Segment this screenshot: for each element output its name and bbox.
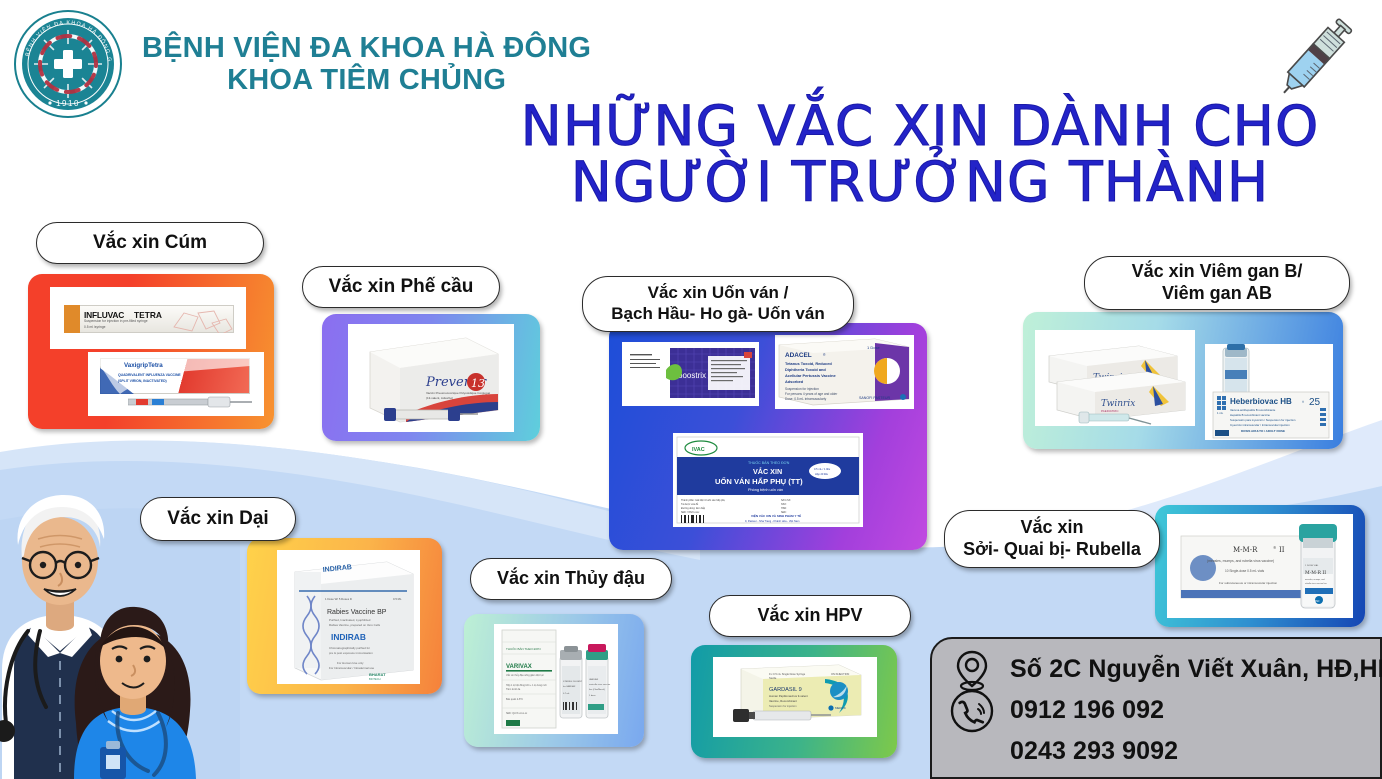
svg-text:0.7 mL: 0.7 mL <box>563 693 570 695</box>
svg-text:SĐK: QLVX-xxxx-xx: SĐK: QLVX-xxxx-xx <box>506 712 528 715</box>
poster-title: NHỮNG VẮC XIN DÀNH CHO NGƯỜI TRƯỞNG THÀN… <box>470 98 1370 210</box>
svg-text:boostrix: boostrix <box>678 371 706 380</box>
svg-text:Vaccine, Recombinant: Vaccine, Recombinant <box>769 699 797 703</box>
vaccine-label-phe-cau[interactable]: Vắc xin Phế cầu <box>302 266 500 308</box>
svg-text:Tetanus Toxoid, Reduced: Tetanus Toxoid, Reduced <box>785 361 832 366</box>
svg-text:Rabies Vaccine, prepared on Ve: Rabies Vaccine, prepared on Vero Cells <box>329 623 381 627</box>
svg-text:9 x 0.5 mL Single Dose Syringe: 9 x 0.5 mL Single Dose Syringe <box>769 672 806 676</box>
contact-mobile-row: 0912 196 092 <box>946 690 1368 731</box>
vaccine-label-viem-gan-line1: Vắc xin Viêm gan B/ <box>1132 261 1303 283</box>
svg-text:VARIVAX: VARIVAX <box>589 678 599 681</box>
svg-text:Suspensión para inyección / Su: Suspensión para inyección / Suspension f… <box>1230 418 1296 422</box>
contact-panel: Số 2C Nguyễn Viết Xuân, HĐ,HN 0912 196 0… <box>930 637 1382 779</box>
svg-text:Thành phần: Giải độc tố uốn vá: Thành phần: Giải độc tố uốn ván hấp phụ <box>681 499 726 502</box>
svg-text:Inyección intramuscular / Intr: Inyección intramuscular / Intramuscular … <box>1230 423 1290 427</box>
vaccine-label-hpv[interactable]: Vắc xin HPV <box>709 595 911 637</box>
svg-text:VẮC XIN: VẮC XIN <box>753 467 782 476</box>
svg-text:25: 25 <box>1309 397 1321 408</box>
svg-text:1 Dose W/ 5 Doses D: 1 Dose W/ 5 Doses D <box>325 597 352 601</box>
svg-text:Phòng bệnh uốn ván: Phòng bệnh uốn ván <box>748 488 783 492</box>
vaccine-label-mmr-line1: Vắc xin <box>1020 517 1083 539</box>
hospital-logo: BỆNH VIỆN ĐA KHOA HÀ ĐÔNG GENERAL HOSPIT… <box>12 8 124 120</box>
contact-phone-mobile: 0912 196 092 <box>1010 696 1164 725</box>
vaccine-label-cum-text: Vắc xin Cúm <box>93 231 207 254</box>
svg-text:Purified, Inactivated, Lyophil: Purified, Inactivated, Lyophilized <box>329 618 371 622</box>
vaxigrip-line2: (SPLIT VIRION, INACTIVATED) <box>118 379 167 383</box>
svg-text:Vacuna antihepatitis B recombi: Vacuna antihepatitis B recombinante <box>1230 408 1276 412</box>
svg-text:Bảo quản 2-8°C: Bảo quản 2-8°C <box>506 698 523 701</box>
svg-text:Hộp 1 lọ bột đông khô + 1 lọ d: Hộp 1 lọ bột đông khô + 1 lọ dung môi <box>506 684 547 687</box>
svg-text:0.5 mL / 1 liều: 0.5 mL / 1 liều <box>814 467 831 471</box>
svg-text:Số lô SX:: Số lô SX: <box>781 499 791 502</box>
vaccine-label-viem-gan[interactable]: Vắc xin Viêm gan B/ Viêm gan AB <box>1084 256 1350 310</box>
vaccine-label-phe-cau-text: Vắc xin Phế cầu <box>329 275 474 298</box>
vaccine-label-thuy-dau-text: Vắc xin Thủy đậu <box>497 568 645 590</box>
poster-title-line1: NHỮNG VẮC XIN DÀNH CHO <box>470 98 1370 154</box>
vaccine-label-dai[interactable]: Vắc xin Dại <box>140 497 296 541</box>
svg-text:Tiêm dưới da: Tiêm dưới da <box>506 688 521 691</box>
svg-text:For persons 4 years of age and: For persons 4 years of age and older <box>785 392 838 396</box>
vaccine-label-viem-gan-line2: Viêm gan AB <box>1162 283 1272 305</box>
vaccine-label-hpv-text: Vắc xin HPV <box>757 605 862 627</box>
vaccine-label-dai-text: Vắc xin Dại <box>167 507 268 530</box>
vaccine-label-uon-van-line1: Vắc xin Uốn ván / <box>648 283 789 304</box>
svg-text:0.5 ML: 0.5 ML <box>393 597 402 601</box>
svg-text:Tá dược vừa đủ: Tá dược vừa đủ <box>681 503 699 506</box>
svg-text:ON INJECTION: ON INJECTION <box>831 672 849 676</box>
svg-text:For subcutaneous or intramuscu: For subcutaneous or intramuscular inject… <box>1219 581 1278 585</box>
svg-text:Suspension for injection: Suspension for injection <box>769 704 797 708</box>
svg-text:GARDASIL 9: GARDASIL 9 <box>769 687 802 693</box>
vaccine-card-cum[interactable]: INFLUVAC TETRA Suspension for injection … <box>28 274 274 429</box>
svg-text:II: II <box>1279 546 1285 554</box>
poster-title-line2: NGƯỜI TRƯỞNG THÀNH <box>470 154 1370 210</box>
phone-call-icon <box>946 688 998 734</box>
svg-text:VIỆN VẮC XIN VÀ SINH PHẨM Y TẾ: VIỆN VẮC XIN VÀ SINH PHẨM Y TẾ <box>751 513 801 518</box>
svg-text:MSD: MSD <box>1314 600 1320 603</box>
svg-text:for VARIVAX: for VARIVAX <box>563 685 576 688</box>
vaccine-label-mmr-line2: Sởi- Quai bị- Rubella <box>963 539 1141 561</box>
svg-text:live (Oka/Merck): live (Oka/Merck) <box>589 688 605 691</box>
svg-text:M-M-R: M-M-R <box>1233 546 1258 554</box>
vaccine-label-uon-van-line2: Bạch Hầu- Ho gà- Uốn ván <box>611 304 824 325</box>
svg-text:SANOFI PASTEUR: SANOFI PASTEUR <box>859 396 890 400</box>
vaccine-card-phe-cau[interactable]: Prevenar 13 Vaccin Pneumococcique Polyos… <box>322 314 540 441</box>
svg-text:13: 13 <box>471 377 485 390</box>
svg-text:Heberbiovac HB: Heberbiovac HB <box>1230 397 1292 406</box>
contact-address-row: Số 2C Nguyễn Viết Xuân, HĐ,HN <box>946 649 1368 690</box>
svg-text:Adsorbed: Adsorbed <box>785 379 804 384</box>
vaccine-card-uon-van[interactable]: boostrix ADACEL ® <box>609 323 927 550</box>
svg-text:rubella virus vaccine live: rubella virus vaccine live <box>1305 583 1328 585</box>
svg-text:BIOTECH: BIOTECH <box>369 677 381 681</box>
location-pin-icon <box>946 648 998 692</box>
svg-text:1 dose: 1 dose <box>589 695 596 697</box>
vaccine-label-mmr[interactable]: Vắc xin Sởi- Quai bị- Rubella <box>944 510 1160 568</box>
svg-text:Rabies Vaccine BP: Rabies Vaccine BP <box>327 609 387 616</box>
vaxigrip-line1: QUADRIVALENT INFLUENZA VACCINE <box>118 373 181 377</box>
svg-text:For Intramuscular / Intraderma: For Intramuscular / Intradermal use <box>329 666 375 670</box>
svg-text:NSX:: NSX: <box>781 503 787 506</box>
svg-text:Chromatographically purified f: Chromatographically purified for <box>329 646 370 650</box>
svg-text:Diphtheria Toxoid and: Diphtheria Toxoid and <box>785 367 826 372</box>
vaccine-card-hpv[interactable]: 9 x 0.5 mL Single Dose Syringe Sterile O… <box>691 645 897 758</box>
svg-text:Sterile: Sterile <box>769 676 777 680</box>
infographic-poster: BỆNH VIỆN ĐA KHOA HÀ ĐÔNG GENERAL HOSPIT… <box>0 0 1382 779</box>
svg-text:Twinrix: Twinrix <box>1101 399 1135 409</box>
vaccine-label-cum[interactable]: Vắc xin Cúm <box>36 222 264 264</box>
svg-text:10 Single-dose 0.5 mL vials: 10 Single-dose 0.5 mL vials <box>1225 569 1264 573</box>
svg-text:INDIRAB: INDIRAB <box>331 632 366 642</box>
vaxigrip-brand: VaxigripTetra <box>124 362 163 369</box>
svg-text:M-M-R II: M-M-R II <box>1305 570 1326 576</box>
svg-text:MERCK: MERCK <box>835 706 846 710</box>
svg-text:THUỐC BÁN THEO ĐƠN: THUỐC BÁN THEO ĐƠN <box>506 646 541 651</box>
svg-text:ADACEL: ADACEL <box>785 352 812 359</box>
svg-text:measles, mumps, and: measles, mumps, and <box>1305 579 1325 581</box>
logo-year-text: 1910 <box>56 99 80 108</box>
contact-address: Số 2C Nguyễn Viết Xuân, HĐ,HN <box>1010 655 1382 684</box>
svg-text:(measles, mumps, and rubella v: (measles, mumps, and rubella virus vacci… <box>1207 559 1274 563</box>
svg-text:BHARAT: BHARAT <box>369 672 386 677</box>
svg-text:Vắc xin thủy đậu sống giảm độc: Vắc xin thủy đậu sống giảm độc lực <box>506 674 545 677</box>
svg-text:HSD:: HSD: <box>781 507 787 510</box>
svg-text:Vaccin Pneumococcique Polyosid: Vaccin Pneumococcique Polyosidique Conju… <box>426 391 490 395</box>
svg-text:For Human Use only: For Human Use only <box>337 661 364 665</box>
contact-phone-landline: 0243 293 9092 <box>1010 737 1178 766</box>
svg-text:9, Pasteur - Nha Trang - Khánh: 9, Pasteur - Nha Trang - Khánh Hòa - Việ… <box>745 519 799 523</box>
svg-text:IVAC: IVAC <box>692 447 705 453</box>
hospital-department-line: KHOA TIÊM CHỦNG <box>227 64 506 96</box>
svg-text:1 DOSE VIAL: 1 DOSE VIAL <box>1305 564 1319 567</box>
influvac-desc: Suspension for injection in pre-filled s… <box>84 319 148 323</box>
svg-text:THUỐC BÁN THEO ĐƠN: THUỐC BÁN THEO ĐƠN <box>748 460 790 465</box>
svg-text:UỐN VÁN HẤP PHỤ (TT): UỐN VÁN HẤP PHỤ (TT) <box>715 476 803 486</box>
vaccine-card-mmr[interactable]: M-M-R ® II (measles, mumps, and rubella … <box>1155 505 1365 627</box>
svg-text:pre & post exposure immunisati: pre & post exposure immunisation <box>329 651 373 655</box>
vaccine-label-thuy-dau[interactable]: Vắc xin Thủy đậu <box>470 558 672 600</box>
svg-text:Suspension for injection: Suspension for injection <box>785 387 819 391</box>
svg-text:(13-valent, Adsorbé): (13-valent, Adsorbé) <box>426 396 453 400</box>
svg-text:®: ® <box>1273 545 1276 550</box>
vaccine-card-dai[interactable]: INDIRAB 1 Dose W/ 5 Doses D 0.5 ML Rabie… <box>247 538 442 694</box>
svg-text:STERILE DILUENT: STERILE DILUENT <box>563 681 583 683</box>
svg-text:Human Papillomavirus 9-valent: Human Papillomavirus 9-valent <box>769 694 808 698</box>
influvac-dose: 0.5 ml /syringe <box>84 325 105 329</box>
svg-text:PAEDIATRIC: PAEDIATRIC <box>1101 409 1119 413</box>
syringe-icon <box>1262 10 1366 111</box>
svg-text:Đường dùng: tiêm bắp: Đường dùng: tiêm bắp <box>681 507 706 510</box>
svg-text:1 Dose: 1 Dose <box>867 345 880 350</box>
vaccine-label-uon-van[interactable]: Vắc xin Uốn ván / Bạch Hầu- Ho gà- Uốn v… <box>582 276 854 332</box>
svg-text:Dose: 0.5 mL intramuscularly: Dose: 0.5 mL intramuscularly <box>785 397 827 401</box>
contact-landline-row: 0243 293 9092 <box>946 731 1368 772</box>
svg-text:Hộp 20 liều: Hộp 20 liều <box>815 472 829 476</box>
svg-text:1 mL: 1 mL <box>1217 411 1224 415</box>
svg-text:Hepatitis B recombinant vaccin: Hepatitis B recombinant vaccine <box>1230 413 1270 417</box>
vaccine-card-thuy-dau[interactable]: THUỐC BÁN THEO ĐƠN VARIVAX Vắc xin thủy … <box>464 614 644 747</box>
svg-text:Acellular Pertussis Vaccine: Acellular Pertussis Vaccine <box>785 373 836 378</box>
svg-text:SĐK: VNVX-xxxx: SĐK: VNVX-xxxx <box>681 511 700 514</box>
poster-header: BỆNH VIỆN ĐA KHOA HÀ ĐÔNG GENERAL HOSPIT… <box>12 8 591 120</box>
svg-text:VARIVAX: VARIVAX <box>506 664 532 670</box>
vaccine-card-viem-gan[interactable]: Twinrix HEPATITIS A&B Twinrix PAEDIATRIC <box>1023 312 1343 449</box>
hospital-name-line1: BỆNH VIỆN ĐA KHOA HÀ ĐÔNG <box>142 32 591 64</box>
svg-text:DOSIS ADULTO / ADULT DOSE: DOSIS ADULTO / ADULT DOSE <box>1241 429 1285 433</box>
svg-text:varicella virus vaccine: varicella virus vaccine <box>589 683 611 686</box>
